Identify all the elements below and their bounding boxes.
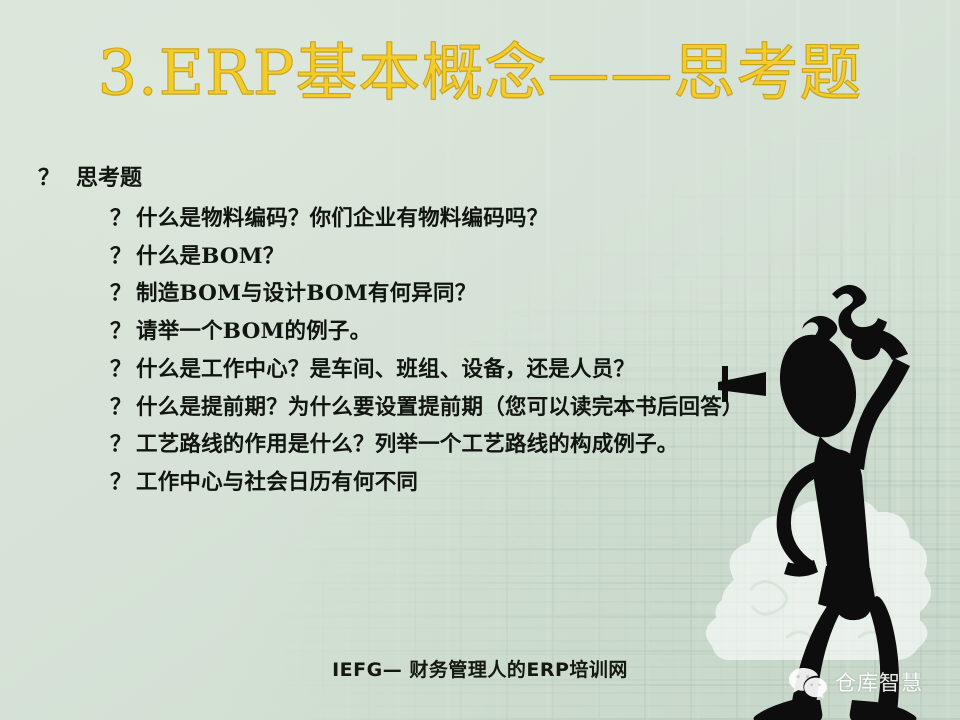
bullet-marker-icon: ？: [110, 244, 136, 269]
list-item-label: 什么是物料编码？你们企业有物料编码吗？: [136, 207, 548, 232]
list-item-label: 什么是提前期？为什么要设置提前期（您可以读完本书后回答）: [136, 396, 744, 421]
list-item: ？ 请举一个BOM的例子。: [110, 319, 960, 345]
list-item: ？ 什么是工作中心？是车间、班组、设备，还是人员？: [110, 357, 960, 383]
list-item: ？ 工艺路线的作用是什么？列举一个工艺路线的构成例子。: [110, 432, 960, 458]
list-item: ？ 工作中心与社会日历有何不同: [110, 470, 960, 496]
list-item-label: 制造BOM与设计BOM有何异同？: [136, 282, 476, 307]
list-item: ？ 制造BOM与设计BOM有何异同？: [110, 281, 960, 307]
list-item-heading: ？ 思考题: [38, 160, 960, 192]
heading-label: 思考题: [76, 160, 142, 192]
bullet-marker-icon: ？: [110, 395, 136, 420]
content-body: ？ 思考题 ？ 什么是物料编码？你们企业有物料编码吗？ ？ 什么是BOM？ ？ …: [0, 160, 960, 508]
list-item: ？ 什么是物料编码？你们企业有物料编码吗？: [110, 206, 960, 232]
list-item-label: 什么是BOM？: [136, 245, 285, 270]
question-list: ？ 什么是物料编码？你们企业有物料编码吗？ ？ 什么是BOM？ ？ 制造BOM与…: [0, 206, 960, 496]
bullet-marker-icon: ？: [110, 470, 136, 495]
bullet-marker-icon: ？: [38, 160, 76, 192]
bullet-marker-icon: ？: [110, 357, 136, 382]
bullet-marker-icon: ？: [110, 432, 136, 457]
list-item: ？ 什么是BOM？: [110, 244, 960, 270]
page-title: 3.ERP基本概念——思考题: [0, 40, 960, 105]
list-item-label: 工作中心与社会日历有何不同: [136, 471, 418, 496]
bullet-marker-icon: ？: [110, 319, 136, 344]
wechat-icon: [788, 666, 828, 698]
bullet-marker-icon: ？: [110, 206, 136, 231]
list-item-label: 工艺路线的作用是什么？列举一个工艺路线的构成例子。: [136, 433, 679, 458]
watermark: 仓库智慧: [788, 666, 923, 698]
list-item-label: 请举一个BOM的例子。: [136, 320, 371, 345]
bullet-marker-icon: ？: [110, 281, 136, 306]
slide-canvas: 3.ERP基本概念——思考题 ？ 思考题 ？ 什么是物料编码？你们企业有物料编码…: [0, 0, 960, 720]
watermark-label: 仓库智慧: [835, 667, 923, 697]
list-item: ？ 什么是提前期？为什么要设置提前期（您可以读完本书后回答）: [110, 395, 960, 421]
list-item-label: 什么是工作中心？是车间、班组、设备，还是人员？: [136, 358, 635, 383]
